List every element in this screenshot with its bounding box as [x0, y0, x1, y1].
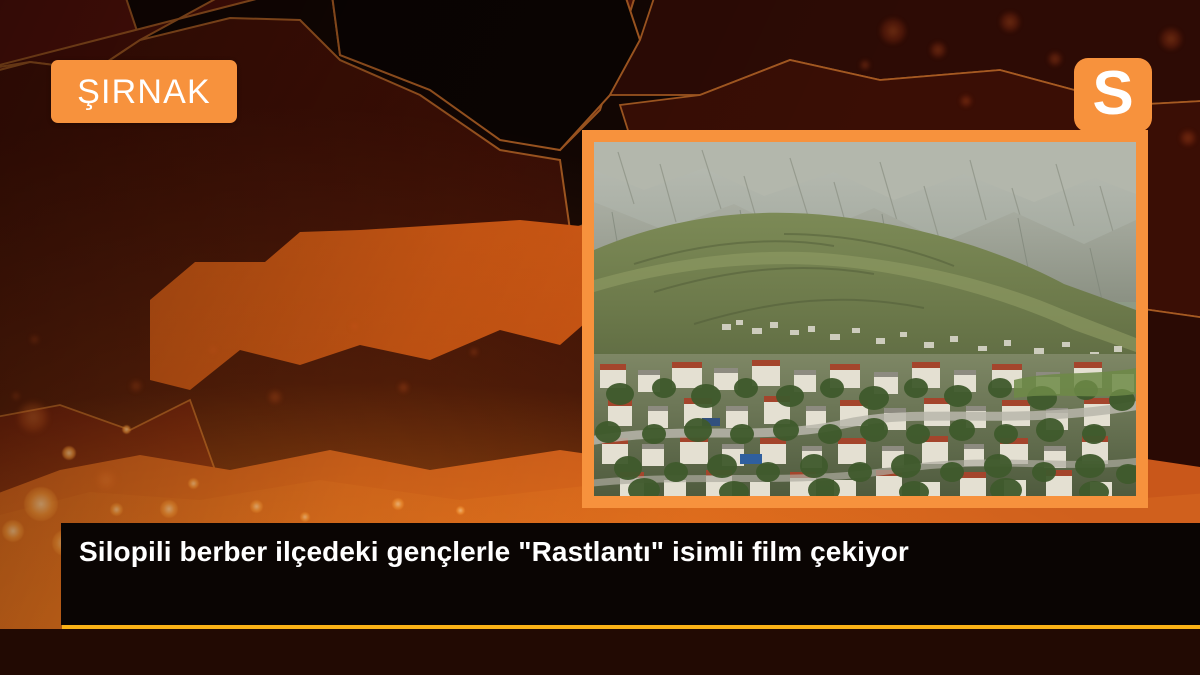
news-card: ŞIRNAK S: [0, 0, 1200, 675]
news-photo: [594, 142, 1136, 496]
brand-logo-letter: S: [1092, 63, 1133, 125]
province-badge[interactable]: ŞIRNAK: [51, 60, 237, 123]
news-photo-illustration: [594, 142, 1136, 496]
province-badge-label: ŞIRNAK: [77, 75, 211, 109]
brand-logo[interactable]: S: [1074, 58, 1152, 132]
headline-text: Silopili berber ilçedeki gençlerle "Rast…: [79, 534, 1182, 569]
headline-bar: Silopili berber ilçedeki gençlerle "Rast…: [61, 523, 1200, 625]
headline-underline: [62, 625, 1200, 629]
bottom-band: [0, 629, 1200, 675]
news-photo-frame[interactable]: [582, 130, 1148, 508]
